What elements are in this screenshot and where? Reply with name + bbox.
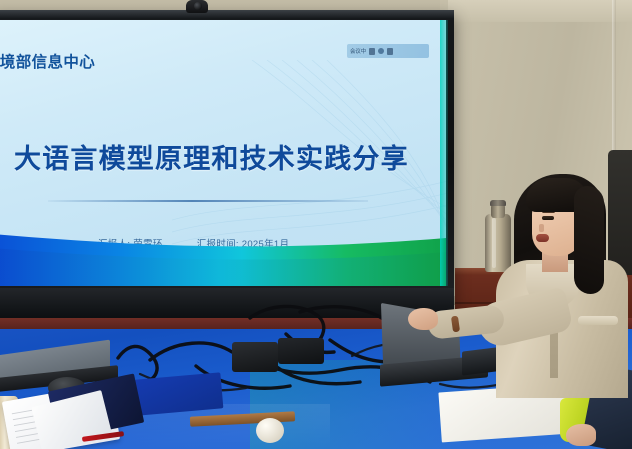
power-adapter-1: [232, 342, 278, 372]
title-divider-rule: [48, 200, 368, 202]
slide-org-header: 态环境部信息中心: [0, 50, 95, 72]
presentation-slide: 态环境部信息中心 大语言模型原理和技术实践分享 汇报人: 荣雪环 汇报时间: 2…: [0, 20, 446, 286]
network-icon[interactable]: [387, 48, 393, 55]
status-bar-text: 会议中: [350, 47, 366, 55]
display-top-bezel: [0, 10, 454, 19]
slide-wave-graphic: [0, 222, 446, 286]
eye: [542, 216, 554, 220]
presenter: [470, 168, 632, 398]
cardigan-pocket-trim: [578, 316, 618, 325]
camera-icon[interactable]: [378, 48, 384, 54]
paper-cup: [256, 418, 284, 443]
hair-side-strand: [574, 186, 604, 294]
presenter-hand-on-keyboard: [408, 308, 438, 330]
slide-title: 大语言模型原理和技术实践分享: [14, 137, 409, 176]
conference-room-scene: 态环境部信息中心 大语言模型原理和技术实践分享 汇报人: 荣雪环 汇报时间: 2…: [0, 0, 632, 449]
nose: [539, 224, 544, 232]
wall-upper-band: [448, 0, 632, 22]
display-screen[interactable]: 态环境部信息中心 大语言模型原理和技术实践分享 汇报人: 荣雪环 汇报时间: 2…: [0, 20, 446, 286]
microphone-icon[interactable]: [369, 48, 375, 55]
display-status-bar[interactable]: 会议中: [347, 44, 429, 58]
hand-holding-clipboard: [566, 424, 596, 446]
screen-edge-accent: [440, 20, 448, 286]
tablet-device[interactable]: [135, 372, 224, 415]
camera-lens-icon: [194, 2, 202, 10]
mouth-speaking: [536, 234, 549, 242]
power-adapter-2: [278, 338, 324, 364]
